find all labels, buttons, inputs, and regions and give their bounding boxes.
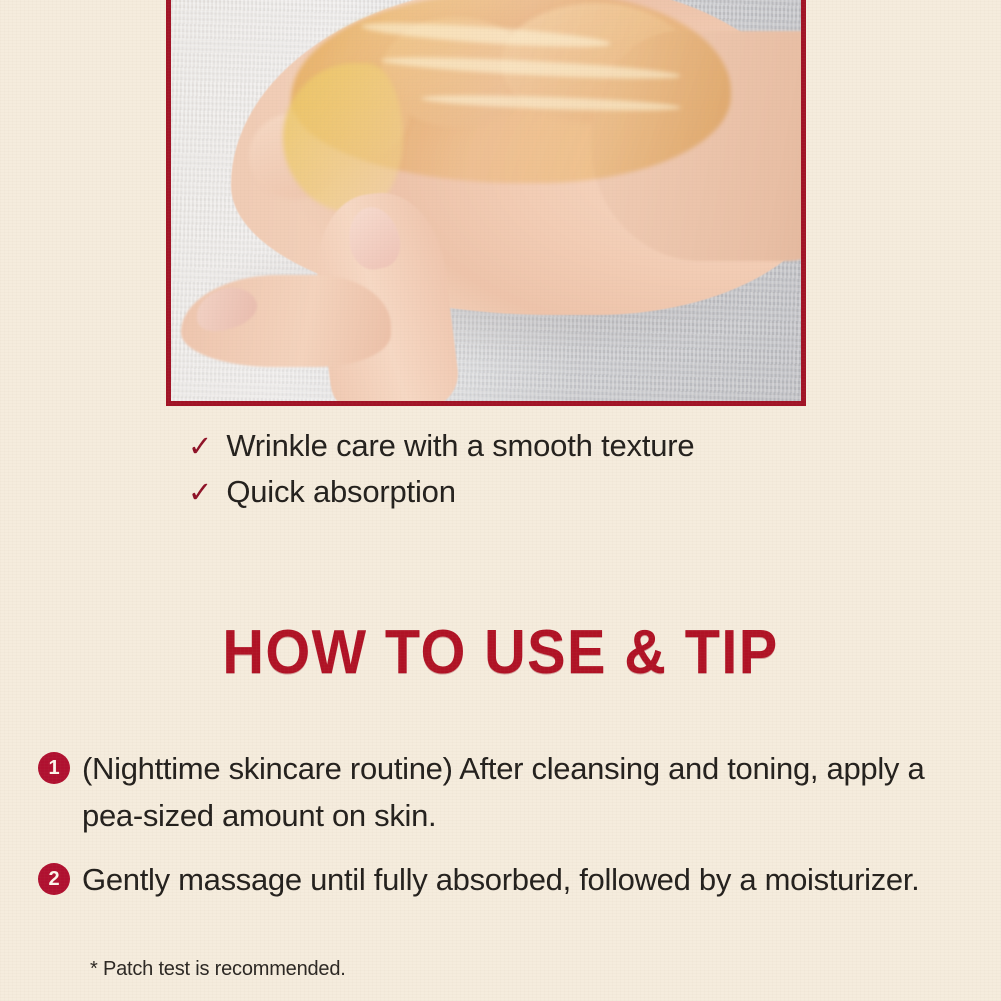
benefit-label: Wrinkle care with a smooth texture <box>226 426 694 466</box>
step-description: Gently massage until fully absorbed, fol… <box>82 857 919 904</box>
benefit-label: Quick absorption <box>226 472 455 512</box>
benefit-list: ✓ Wrinkle care with a smooth texture ✓ Q… <box>188 426 888 517</box>
patch-test-footnote: * Patch test is recommended. <box>90 958 346 981</box>
benefit-item: ✓ Wrinkle care with a smooth texture <box>188 426 888 466</box>
step-number-badge: 1 <box>38 752 70 784</box>
check-icon: ✓ <box>188 433 212 462</box>
benefit-item: ✓ Quick absorption <box>188 472 888 512</box>
step-description: (Nighttime skincare routine) After clean… <box>82 746 963 839</box>
step-item: 2 Gently massage until fully absorbed, f… <box>38 857 963 904</box>
photo-inner <box>171 0 801 401</box>
step-item: 1 (Nighttime skincare routine) After cle… <box>38 746 963 839</box>
section-title: HOW TO USE & TIP <box>35 622 966 684</box>
check-icon: ✓ <box>188 479 212 508</box>
step-number-badge: 2 <box>38 863 70 895</box>
how-to-use-steps: 1 (Nighttime skincare routine) After cle… <box>38 746 963 922</box>
product-demo-photo <box>166 0 806 406</box>
